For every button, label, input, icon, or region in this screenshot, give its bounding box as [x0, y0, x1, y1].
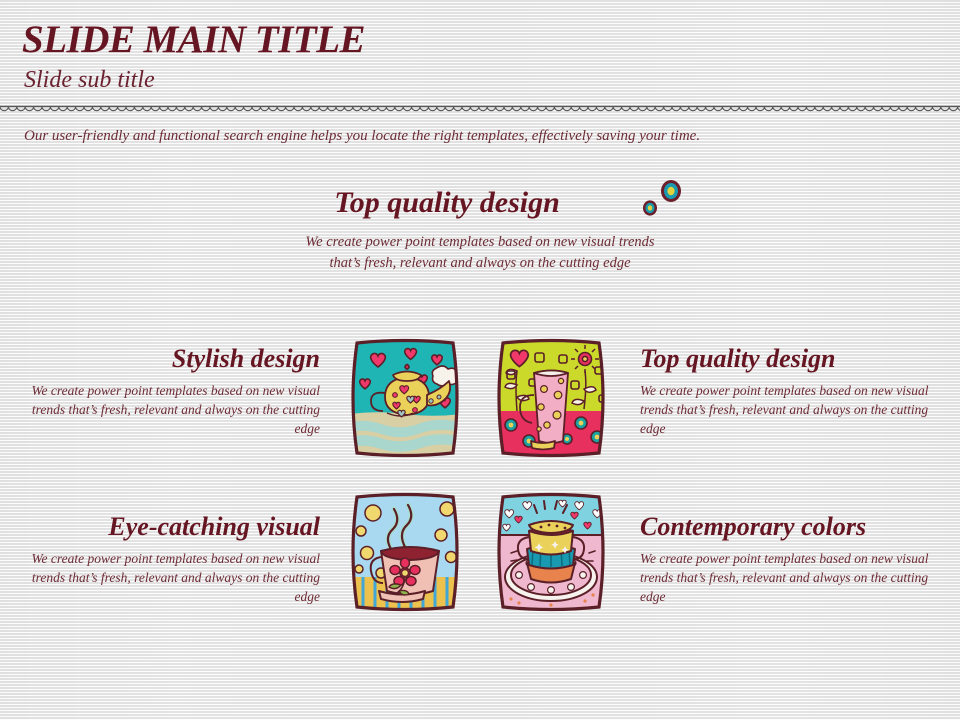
cup-illustration[interactable] — [343, 491, 467, 613]
feature-contemporary-colors: Contemporary colors We create power poin… — [640, 512, 940, 606]
teapot-illustration[interactable] — [343, 337, 467, 459]
intro-text: Our user-friendly and functional search … — [24, 128, 936, 145]
feature-body: We create power point templates based on… — [20, 549, 320, 606]
feature-eye-catching-visual: Eye-catching visual We create power poin… — [20, 512, 320, 606]
feature-body: We create power point templates based on… — [20, 381, 320, 438]
hero-title-text: Top quality design — [334, 186, 560, 219]
feature-title: Stylish design — [20, 344, 320, 374]
hero-title: Top quality design — [0, 186, 960, 219]
concentric-circles-icon — [640, 180, 686, 222]
mug-illustration[interactable] — [489, 337, 613, 459]
feature-title: Contemporary colors — [640, 512, 940, 542]
feature-body: We create power point templates based on… — [640, 549, 940, 606]
hero-body-line1: We create power point templates based on… — [0, 232, 960, 253]
slide-canvas: SLIDE MAIN TITLE Slide sub title Our use… — [0, 0, 960, 720]
hero-body-line2: that’s fresh, relevant and always on the… — [0, 253, 960, 274]
scalloped-divider — [0, 104, 960, 120]
feature-body: We create power point templates based on… — [640, 381, 940, 438]
feature-title: Eye-catching visual — [20, 512, 320, 542]
feature-top-quality-design: Top quality design We create power point… — [640, 344, 940, 438]
feature-stylish-design: Stylish design We create power point tem… — [20, 344, 320, 438]
page-title: SLIDE MAIN TITLE — [22, 20, 365, 59]
saucer-illustration[interactable] — [489, 491, 613, 613]
feature-title: Top quality design — [640, 344, 940, 374]
hero-body: We create power point templates based on… — [0, 232, 960, 274]
page-subtitle: Slide sub title — [24, 68, 155, 92]
